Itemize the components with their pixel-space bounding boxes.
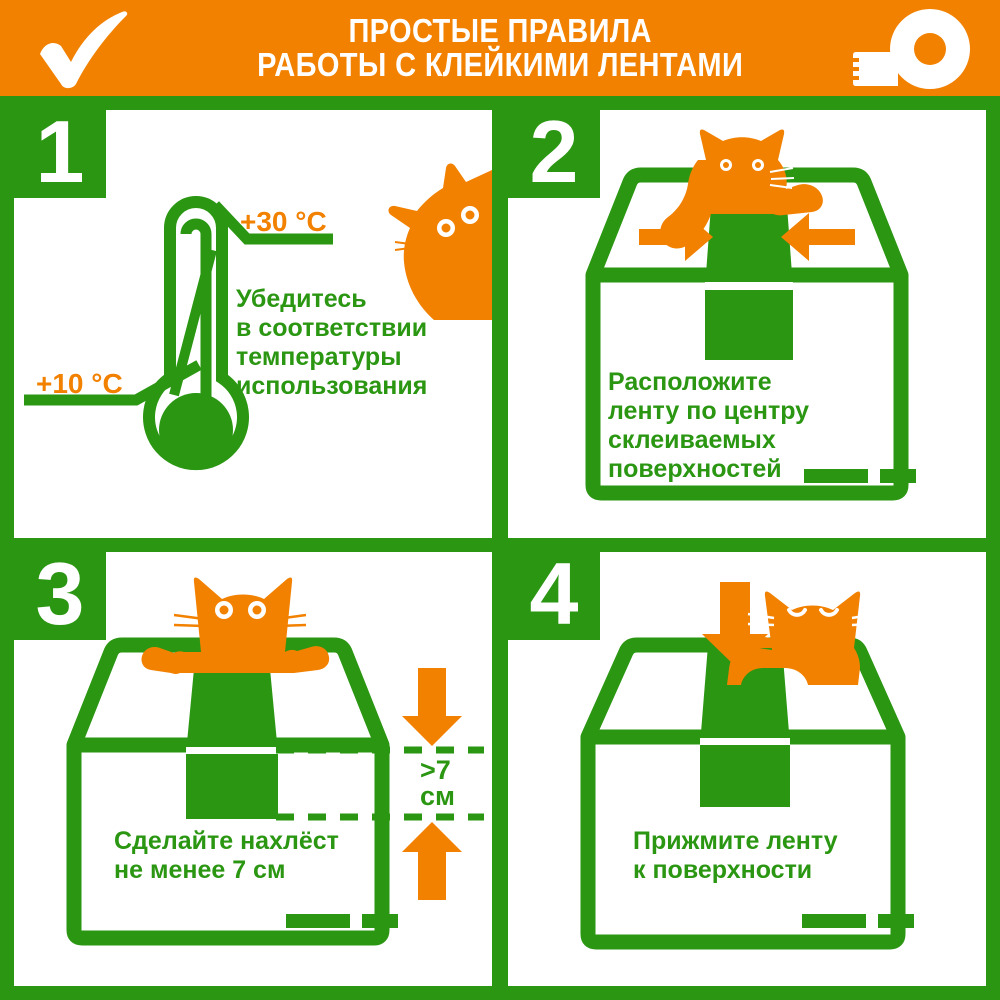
shipping-label-mark bbox=[804, 465, 924, 487]
caption-line: Прижмите ленту bbox=[633, 827, 838, 856]
caption-line: Убедитесь bbox=[236, 285, 427, 314]
header-bar: ПРОСТЫЕ ПРАВИЛА РАБОТЫ С КЛЕЙКИМИ ЛЕНТАМ… bbox=[0, 0, 1000, 96]
caption-line: Сделайте нахлёст bbox=[114, 827, 339, 856]
panel-step-4: 4 bbox=[508, 552, 986, 986]
step-number-badge: 3 bbox=[14, 552, 106, 640]
panel-step-2: 2 bbox=[508, 110, 986, 538]
step-number-badge: 1 bbox=[14, 110, 106, 198]
caption-line: температуры bbox=[236, 343, 427, 372]
caption-line: склеиваемых bbox=[608, 426, 809, 455]
caption-line: в соответствии bbox=[236, 314, 427, 343]
cat-sitting-in-box-icon bbox=[141, 578, 329, 674]
arrow-down-icon bbox=[402, 668, 462, 746]
shipping-label-mark bbox=[286, 910, 406, 932]
caption-line: к поверхности bbox=[633, 856, 838, 885]
caption-line: не менее 7 см bbox=[114, 856, 339, 885]
panel-4-caption: Прижмите ленту к поверхности bbox=[633, 827, 838, 885]
tape-roll-icon bbox=[846, 8, 986, 92]
step-number-badge: 2 bbox=[508, 110, 600, 198]
caption-line: ленту по центру bbox=[608, 397, 809, 426]
caption-line: поверхностей bbox=[608, 455, 809, 484]
panel-step-3: 3 bbox=[14, 552, 492, 986]
measure-line-2: см bbox=[420, 783, 455, 809]
title-line-2: РАБОТЫ С КЛЕЙКИМИ ЛЕНТАМИ bbox=[257, 48, 743, 82]
panel-step-1: 1 bbox=[14, 110, 492, 538]
caption-line: Расположите bbox=[608, 368, 809, 397]
step-number-badge: 4 bbox=[508, 552, 600, 640]
page-title: ПРОСТЫЕ ПРАВИЛА РАБОТЫ С КЛЕЙКИМИ ЛЕНТАМ… bbox=[257, 14, 743, 81]
panel-3-caption: Сделайте нахлёст не менее 7 см bbox=[114, 827, 339, 885]
panel-1-caption: Убедитесь в соответствии температуры исп… bbox=[236, 285, 427, 401]
panel-2-caption: Расположите ленту по центру склеиваемых … bbox=[608, 368, 809, 484]
shipping-label-mark bbox=[802, 910, 922, 932]
panel-grid: 1 bbox=[0, 96, 1000, 1000]
temp-low-label: +10 °C bbox=[36, 368, 123, 400]
arrow-up-icon bbox=[402, 822, 462, 900]
title-line-1: ПРОСТЫЕ ПРАВИЛА bbox=[257, 14, 743, 48]
checkmark-icon bbox=[30, 10, 150, 90]
infographic-poster: ПРОСТЫЕ ПРАВИЛА РАБОТЫ С КЛЕЙКИМИ ЛЕНТАМ… bbox=[0, 0, 1000, 1000]
caption-line: использования bbox=[236, 372, 427, 401]
arrow-left-icon bbox=[781, 213, 855, 261]
thermometer-shape bbox=[149, 202, 243, 467]
temp-high-label: +30 °C bbox=[240, 206, 327, 238]
measure-line-1: >7 bbox=[420, 757, 455, 783]
overlap-measure-label: >7 см bbox=[420, 757, 455, 810]
